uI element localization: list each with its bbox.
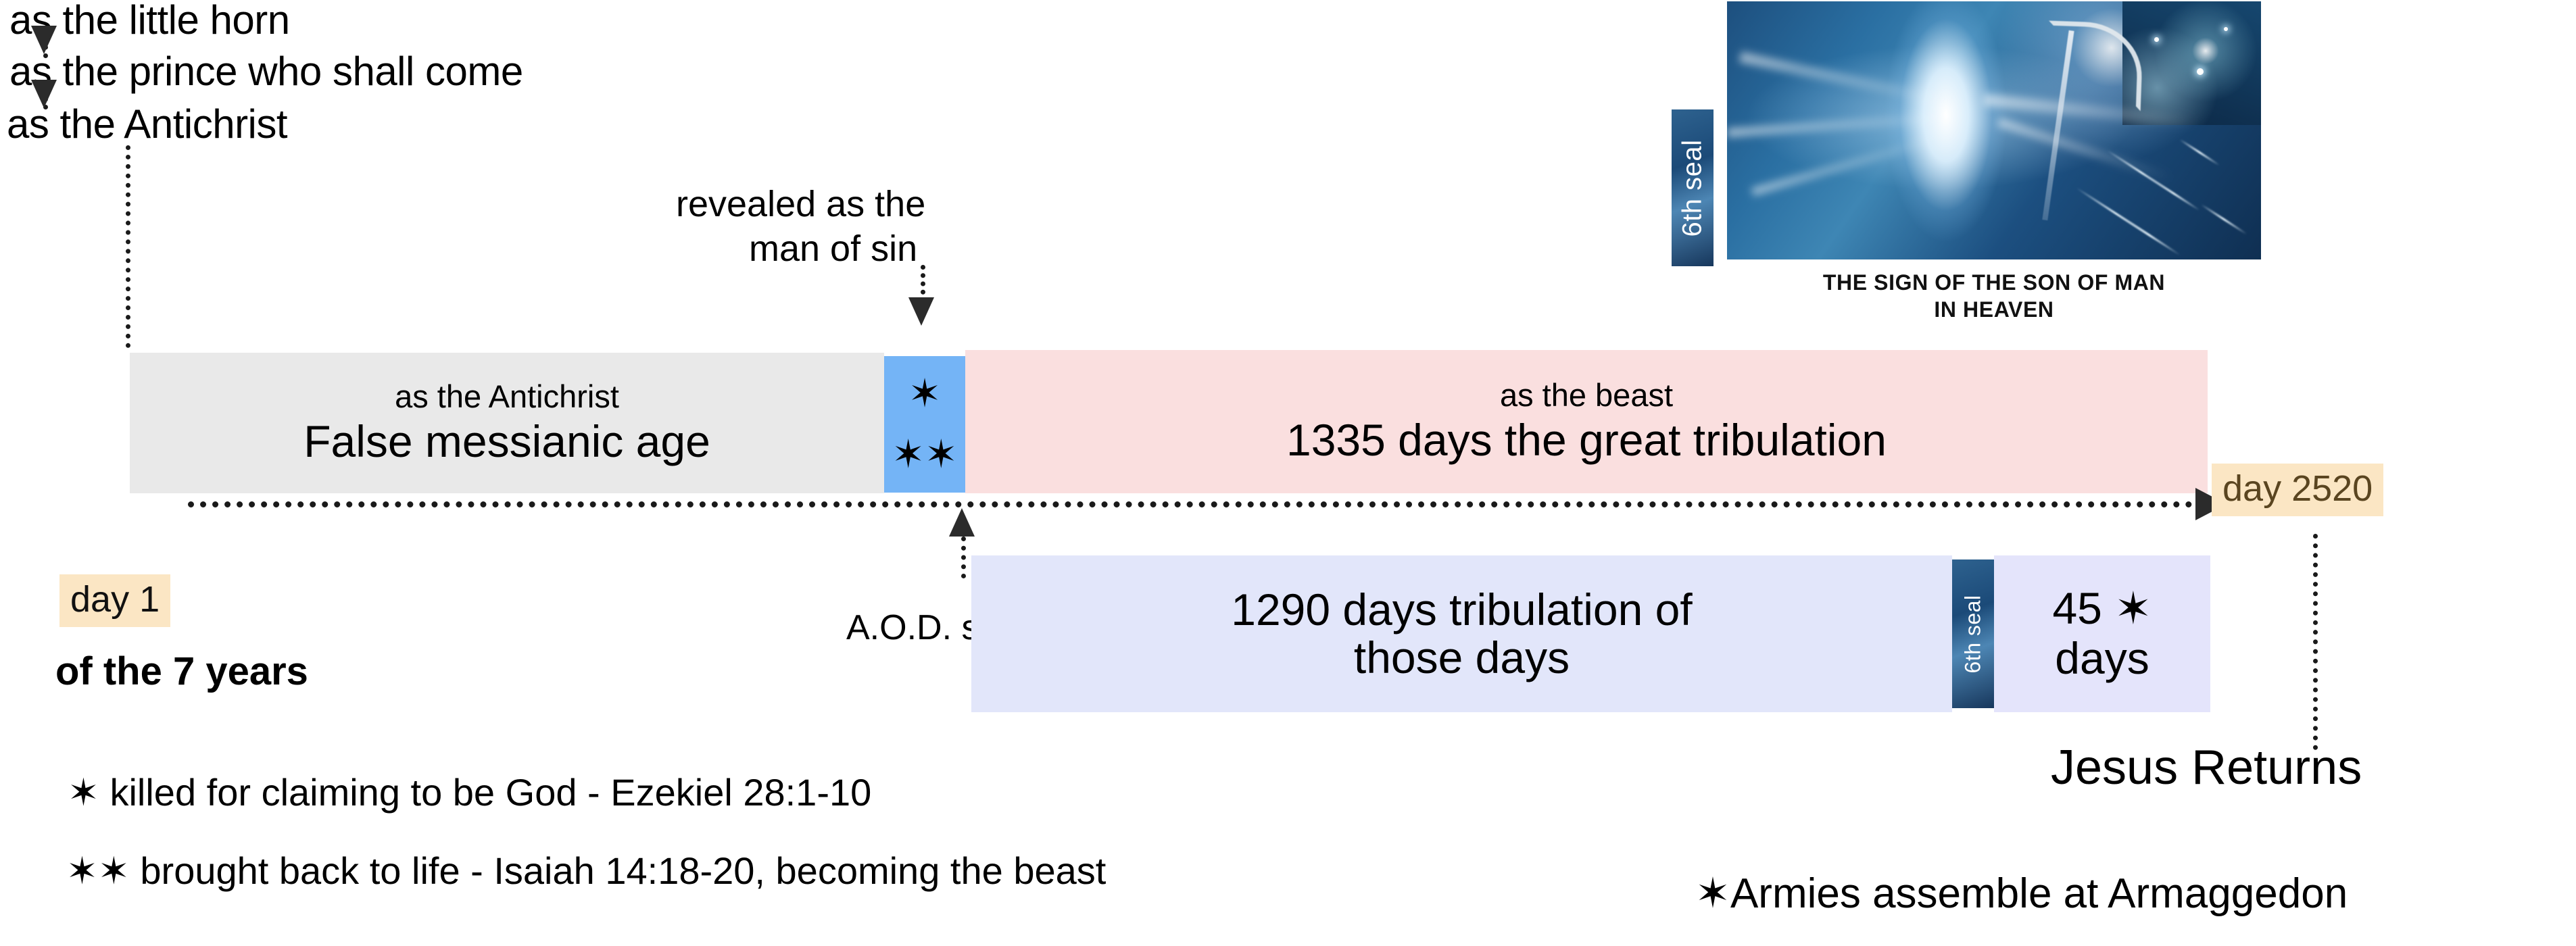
- callout-revealed-arrow-icon: [908, 297, 934, 326]
- timeline-axis-dotted: [188, 501, 2205, 507]
- bar-death-resurrection: ✶ ✶✶: [884, 356, 965, 493]
- bar-1290-title-line2: those days: [1354, 634, 1570, 682]
- prophecy-timeline-diagram: as the little horn as the prince who sha…: [0, 0, 2576, 946]
- chain-label-prince: as the prince who shall come: [9, 49, 523, 94]
- bar-45-line2: days: [2055, 634, 2149, 684]
- day-1-caption: of the 7 years: [55, 650, 308, 694]
- hero-image-sign-of-son-of-man: [1727, 1, 2261, 259]
- bar-1290-title-line1: 1290 days tribulation of: [1231, 586, 1692, 634]
- bar-false-messianic-age: as the Antichrist False messianic age: [130, 353, 884, 493]
- aod-arrow-icon: [949, 508, 975, 537]
- footnote-armageddon: ✶Armies assemble at Armaggedon: [1695, 870, 2348, 917]
- aod-connector: [961, 537, 966, 578]
- bar-pink-subtitle: as the beast: [1500, 378, 1673, 414]
- footnote-double-asterisk: ✶✶ brought back to life - Isaiah 14:18-2…: [66, 850, 1106, 893]
- label-jesus-returns: Jesus Returns: [2051, 741, 2362, 795]
- chip-day-2520: day 2520: [2212, 464, 2383, 516]
- callout-revealed-line2: man of sin: [749, 228, 917, 269]
- day-1-marker-line: [126, 145, 130, 348]
- callout-revealed-line1: revealed as the: [676, 184, 925, 224]
- footnote-single-asterisk: ✶ killed for claiming to be God - Ezekie…: [68, 772, 871, 814]
- hero-galaxy-layer: [2122, 1, 2261, 125]
- day-2520-marker-line: [2313, 534, 2318, 750]
- hero-caption-line2: IN HEAVEN: [1727, 296, 2261, 323]
- seal-tab-hero-6th-seal: 6th seal: [1672, 109, 1714, 266]
- asterisk-double-marker: ✶✶: [892, 435, 957, 474]
- asterisk-single-marker: ✶: [908, 374, 942, 414]
- bar-pink-title: 1335 days the great tribulation: [1286, 416, 1887, 466]
- chain-label-antichrist: as the Antichrist: [7, 101, 287, 147]
- bar-great-tribulation: as the beast 1335 days the great tribula…: [965, 350, 2208, 493]
- hero-star-3: [2224, 27, 2228, 31]
- hero-caption: THE SIGN OF THE SON OF MAN IN HEAVEN: [1727, 269, 2261, 323]
- seal-tab-hero-label: 6th seal: [1678, 139, 1708, 236]
- hero-caption-line1: THE SIGN OF THE SON OF MAN: [1727, 269, 2261, 296]
- seal-tab-lower-6th-seal: 6th seal: [1952, 559, 1994, 708]
- seal-tab-lower-label: 6th seal: [1961, 595, 1986, 673]
- bar-45-line1: 45 ✶: [2052, 584, 2152, 634]
- bar-gray-subtitle: as the Antichrist: [395, 379, 619, 415]
- bar-1290-days: 1290 days tribulation of those days: [971, 555, 1952, 712]
- bar-gray-title: False messianic age: [303, 417, 710, 467]
- chip-day-1: day 1: [59, 574, 170, 627]
- bar-45-days: 45 ✶ days: [1994, 555, 2210, 712]
